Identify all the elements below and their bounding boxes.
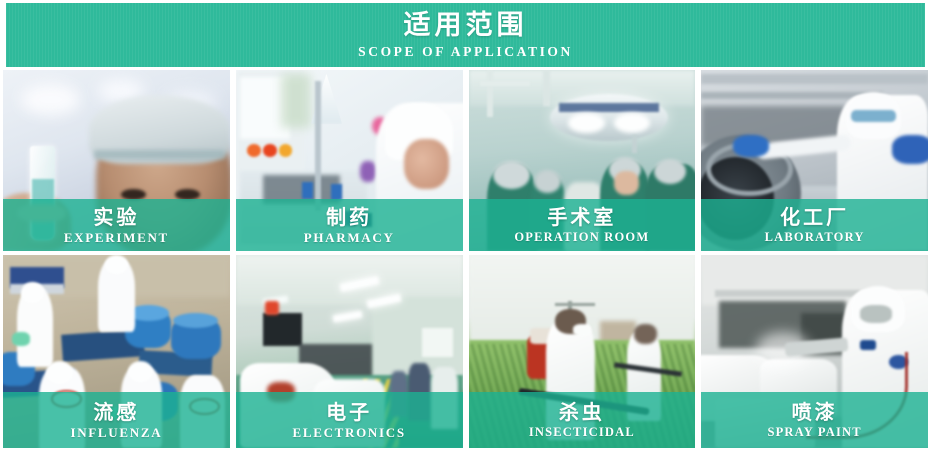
card-label-cn: 化工厂 — [780, 206, 849, 228]
page-title-en: SCOPE OF APPLICATION — [358, 44, 573, 60]
card-label-cn: 流感 — [93, 401, 139, 423]
card-label-band: 电子 ELECTRONICS — [236, 392, 463, 448]
card-label-band: 手术室 OPERATION ROOM — [469, 199, 696, 251]
card-label-band: 制药 PHARMACY — [236, 199, 463, 251]
application-grid: 实验 EXPERIMENT 制药 PHARMACY — [3, 70, 928, 448]
application-card-operation-room[interactable]: 手术室 OPERATION ROOM — [469, 70, 696, 251]
card-label-en: SPRAY PAINT — [767, 425, 861, 440]
card-label-cn: 杀虫 — [559, 401, 605, 423]
scope-of-application-page: 适用范围 SCOPE OF APPLICATION 实验 EXPERIMENT — [0, 0, 931, 450]
page-header: 适用范围 SCOPE OF APPLICATION — [6, 3, 925, 67]
card-label-cn: 实验 — [93, 206, 139, 228]
application-card-electronics[interactable]: 电子 ELECTRONICS — [236, 255, 463, 448]
application-card-spray-paint[interactable]: 喷漆 SPRAY PAINT — [701, 255, 928, 448]
card-label-band: 化工厂 LABORATORY — [701, 199, 928, 251]
card-label-en: LABORATORY — [765, 230, 865, 245]
card-label-band: 实验 EXPERIMENT — [3, 199, 230, 251]
card-label-en: ELECTRONICS — [292, 425, 405, 440]
application-card-pharmacy[interactable]: 制药 PHARMACY — [236, 70, 463, 251]
page-title-cn: 适用范围 — [404, 11, 528, 41]
application-card-insecticidal[interactable]: 杀虫 INSECTICIDAL — [469, 255, 696, 448]
application-card-laboratory[interactable]: 化工厂 LABORATORY — [701, 70, 928, 251]
card-label-en: INSECTICIDAL — [529, 425, 635, 440]
card-label-en: INFLUENZA — [70, 425, 162, 440]
card-label-cn: 电子 — [326, 401, 372, 423]
card-label-cn: 制药 — [326, 206, 372, 228]
card-label-cn: 喷漆 — [792, 401, 838, 423]
card-label-band: 杀虫 INSECTICIDAL — [469, 392, 696, 448]
card-label-band: 流感 INFLUENZA — [3, 392, 230, 448]
application-card-experiment[interactable]: 实验 EXPERIMENT — [3, 70, 230, 251]
application-card-influenza[interactable]: 流感 INFLUENZA — [3, 255, 230, 448]
card-label-cn: 手术室 — [547, 206, 616, 228]
card-label-band: 喷漆 SPRAY PAINT — [701, 392, 928, 448]
card-label-en: OPERATION ROOM — [514, 230, 649, 245]
card-label-en: EXPERIMENT — [64, 230, 169, 245]
card-label-en: PHARMACY — [304, 230, 395, 245]
